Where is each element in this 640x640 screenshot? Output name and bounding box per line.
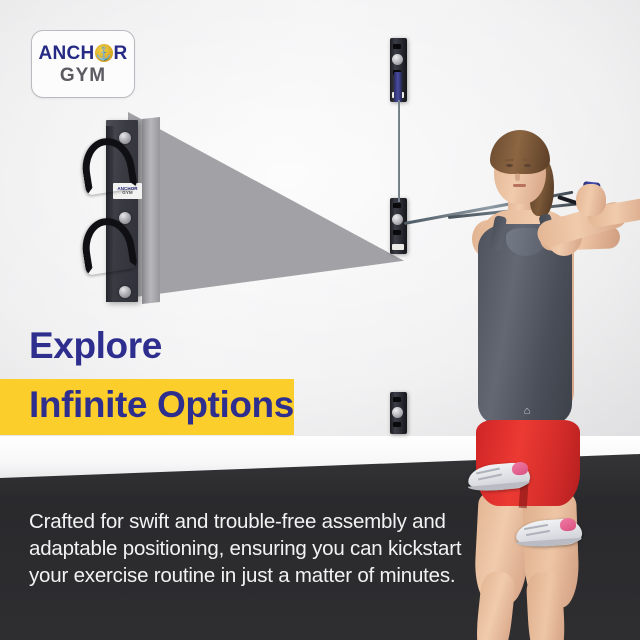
nose [515,173,520,181]
logo-text-after: R [114,44,128,63]
caption-line-2: adaptable positioning, ensuring you can … [29,535,499,562]
eye-left [506,164,513,167]
hand-gripping-handle [576,184,606,216]
brand-logo-badge: ANCH ⚓ R GYM [31,30,135,98]
vertical-cable [398,100,400,202]
athletic-shorts [476,420,580,506]
product-promo-poster: ANCHOR GYM ⌂ [0,0,640,640]
athlete-figure: ⌂ [420,120,640,560]
hair [490,130,550,174]
rail-unit-middle [390,198,407,254]
rail-tag [392,244,404,250]
brand-mark-icon: ⌂ [520,406,534,416]
caption-line-1: Crafted for swift and trouble-free assem… [29,508,499,535]
rail-unit-bottom [390,392,407,434]
mouth [513,184,526,187]
rail-blue-accent [394,72,402,102]
headline-line-1: Explore [29,327,162,364]
rail-slot [393,203,401,208]
sneaker-right-heel-accent [560,517,577,531]
rail-slot [393,422,401,427]
caption-line-3: your exercise routine in just a matter o… [29,562,499,589]
logo-wordmark-anchor: ANCH ⚓ R [38,44,127,63]
rail-slot [393,397,401,402]
calf-right [526,571,567,640]
logo-wordmark-gym: GYM [60,66,106,85]
plate-label-line2: GYM [122,191,133,196]
rail-knob-icon [392,54,403,65]
rail-knob-icon [392,214,403,225]
caption-block: Crafted for swift and trouble-free assem… [29,508,499,589]
headline-line-2: Infinite Options [29,386,294,423]
plate-side-profile [142,117,160,304]
eye-right [524,164,531,167]
rail-slot [393,230,401,235]
rail-knob-icon [392,407,403,418]
anchor-icon: ⚓ [95,44,113,62]
wall-mount-anchor-plate: ANCHOR GYM [100,118,160,303]
rail-slot [393,44,401,49]
logo-text-before: ANCH [38,44,94,63]
plate-bolt-icon [119,286,131,298]
